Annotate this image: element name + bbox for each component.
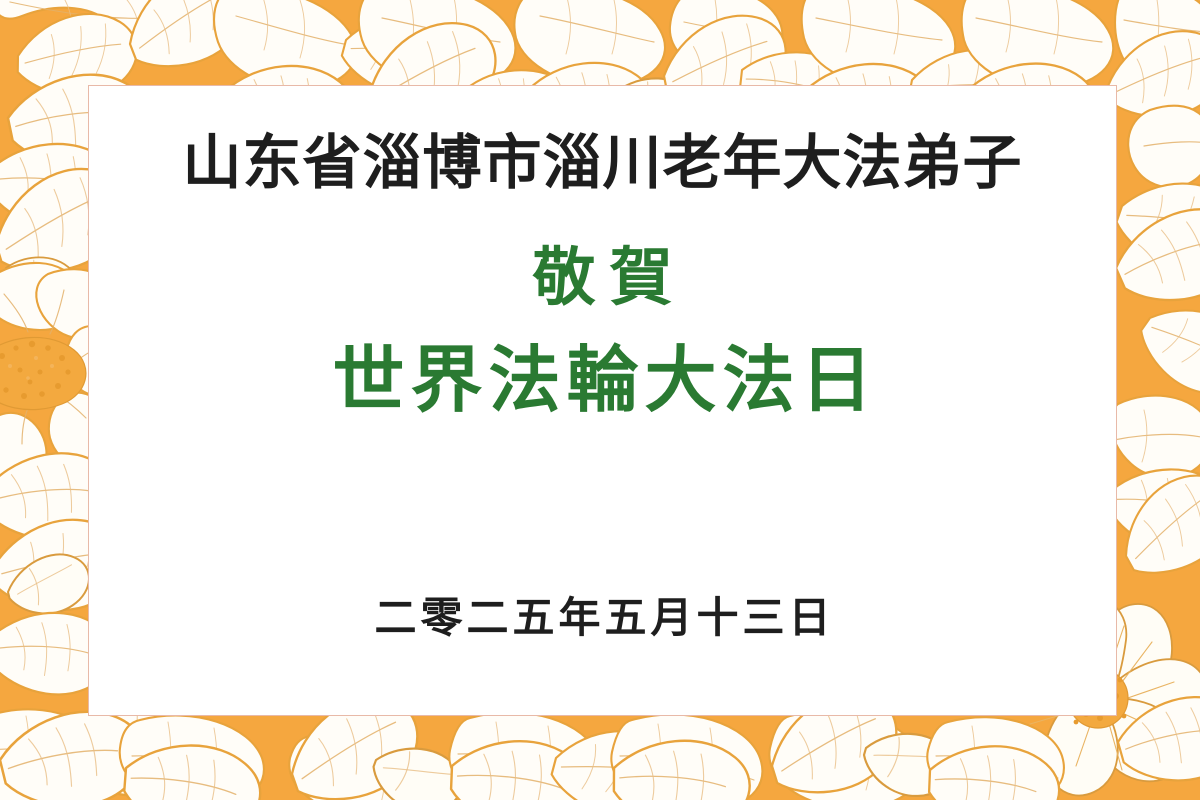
greeting-card: .pet { fill:#FFFDF8; stroke:#E8A33C; str… xyxy=(0,0,1200,800)
date-line: 二零二五年五月十三日 xyxy=(89,597,1116,639)
occasion-line: 世界法輪大法日 xyxy=(89,344,1116,416)
sender-line: 山东省淄博市淄川老年大法弟子 xyxy=(89,133,1116,192)
card-text-stack: 山东省淄博市淄川老年大法弟子 敬賀 世界法輪大法日 二零二五年五月十三日 xyxy=(89,86,1116,715)
salutation-line: 敬賀 xyxy=(89,246,1116,309)
inner-white-card: 山东省淄博市淄川老年大法弟子 敬賀 世界法輪大法日 二零二五年五月十三日 xyxy=(88,85,1117,716)
